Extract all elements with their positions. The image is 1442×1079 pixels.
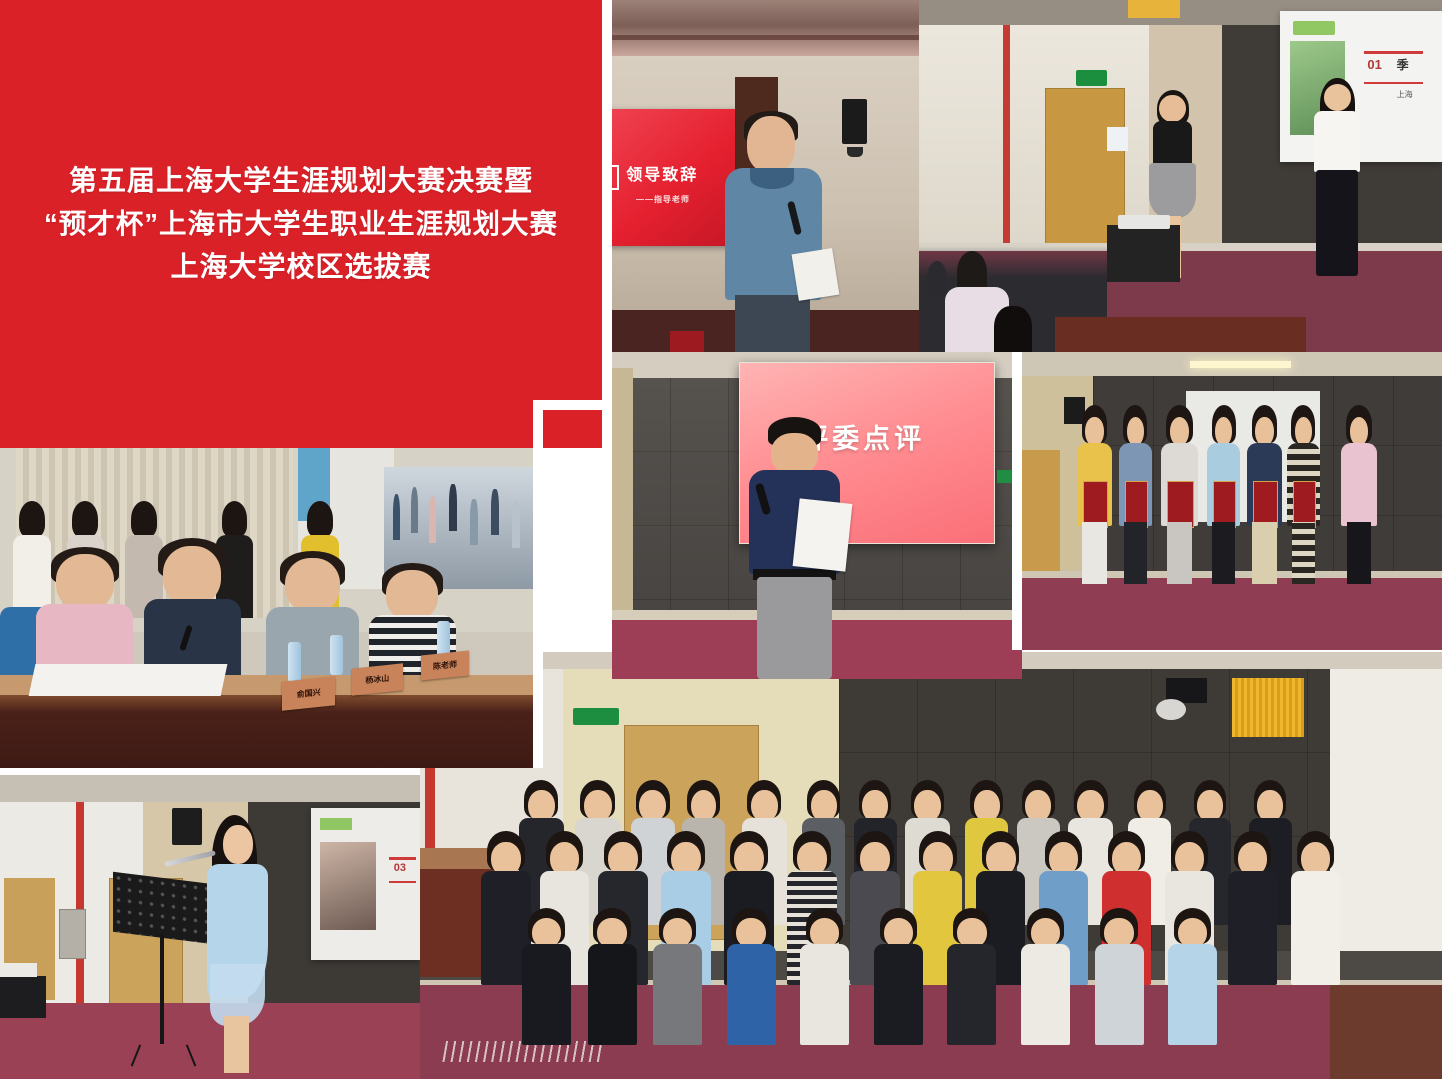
hosts-scene: 01 季 上海 — [919, 0, 1442, 352]
speaker-scene: 领导致辞 ——指导老师 — [612, 0, 919, 352]
awards-scene — [1022, 352, 1442, 650]
seam — [533, 400, 543, 768]
pink-shirt — [1341, 443, 1377, 526]
group-member — [800, 908, 849, 1045]
title-line-3: 上海大学校区选拔赛 — [44, 245, 558, 288]
grey-skirt — [1149, 163, 1196, 218]
light-fixture — [1190, 361, 1291, 368]
slide-rule-bottom — [389, 881, 415, 883]
head — [771, 433, 818, 475]
group-member — [874, 908, 923, 1045]
projection-screen: 03 — [311, 808, 420, 960]
outfit — [947, 944, 996, 1045]
head — [1127, 417, 1144, 446]
title-line-1: 第五届上海大学生涯规划大赛决赛暨 — [44, 159, 558, 202]
presenter-person — [1341, 412, 1377, 585]
head — [56, 554, 114, 610]
audience-head — [994, 306, 1032, 352]
slide-rule-bottom — [1364, 82, 1422, 84]
speaker-box-icon — [842, 99, 867, 145]
page-title: 第五届上海大学生涯规划大赛决赛暨 “预才杯”上海市大学生职业生涯规划大赛 上海大… — [30, 159, 572, 288]
head — [386, 570, 438, 621]
group-member — [522, 908, 571, 1045]
logo-icon — [320, 818, 353, 830]
grey-trousers — [757, 577, 832, 679]
person-speaking — [747, 417, 841, 679]
seam — [602, 0, 612, 352]
presenter-person — [1311, 84, 1363, 288]
side-floor — [1330, 985, 1442, 1079]
flute-scene: 03 — [0, 775, 420, 1079]
name-placard: 俞国兴 — [282, 676, 335, 710]
head — [1324, 84, 1351, 111]
white-blouse — [1314, 111, 1360, 172]
certificate — [1083, 481, 1108, 528]
red-pipe — [1003, 25, 1010, 243]
black-trousers — [1316, 170, 1358, 276]
legs — [1252, 522, 1276, 584]
group-member — [1021, 908, 1070, 1045]
door — [1022, 450, 1060, 578]
group-member — [653, 908, 702, 1045]
suit — [522, 944, 571, 1045]
awardee-person — [1287, 412, 1321, 585]
group-member — [588, 908, 637, 1045]
outfit — [800, 944, 849, 1045]
music-stand-plate — [113, 872, 214, 945]
awardee-person — [1247, 412, 1283, 585]
group-scene — [420, 652, 1442, 1079]
head — [1295, 417, 1312, 446]
head — [747, 116, 796, 173]
slide-title: 季 — [1397, 56, 1409, 73]
outfit — [1095, 944, 1144, 1045]
slide-number-frame — [612, 165, 619, 190]
awardee-person — [1161, 412, 1199, 585]
judges-panel-photo: 俞国兴 杨冰山 陈老师 — [0, 410, 533, 768]
seam — [533, 400, 612, 410]
slide-subtitle: ——指导老师 — [636, 194, 690, 205]
head — [1255, 417, 1274, 446]
slide-title: 领导致辞 — [626, 161, 698, 185]
group-member — [947, 908, 996, 1045]
judge-comments-photo: 评委点评 — [612, 352, 1022, 679]
legs — [1124, 522, 1147, 584]
tshirt — [653, 944, 702, 1045]
legs — [1167, 522, 1193, 584]
ceiling — [0, 775, 420, 802]
slide-number: 03 — [394, 862, 406, 874]
title-line-2: “预才杯”上海市大学生职业生涯规划大赛 — [44, 203, 558, 246]
door-sign — [1107, 127, 1128, 152]
water-bottle — [330, 635, 343, 675]
group-member — [727, 908, 776, 1045]
music-stand — [113, 878, 214, 1066]
stage-floor — [1022, 578, 1442, 650]
outfit — [1168, 944, 1217, 1045]
head — [285, 558, 340, 613]
front-desk — [1055, 317, 1306, 352]
speaker-box-icon — [172, 808, 201, 844]
certificate — [1167, 481, 1193, 528]
outfit — [727, 944, 776, 1045]
outfit — [1021, 944, 1070, 1045]
certificate — [1213, 481, 1237, 528]
group-member — [1168, 908, 1217, 1045]
music-stand-pole — [160, 935, 164, 1044]
person-speaking — [723, 116, 824, 352]
paper-sheet — [792, 248, 839, 301]
legs — [224, 1016, 249, 1073]
black-trousers — [1347, 522, 1371, 584]
slide-number: 01 — [1367, 57, 1381, 72]
red-stool — [670, 331, 704, 352]
audience-head — [927, 261, 948, 297]
red-title-banner: 第五届上海大学生涯规划大赛决赛暨 “预才杯”上海市大学生职业生涯规划大赛 上海大… — [0, 0, 602, 448]
group-member — [1095, 908, 1144, 1045]
front-row — [522, 908, 1340, 1045]
wall-cabinet — [59, 909, 86, 960]
legs — [1292, 522, 1315, 584]
head — [1085, 417, 1104, 446]
flutist-person — [210, 815, 265, 1073]
suit — [588, 944, 637, 1045]
award-ceremony-photo — [1022, 352, 1442, 650]
leader-speech-photo: 领导致辞 ——指导老师 — [612, 0, 919, 352]
judges-scene: 俞国兴 杨冰山 陈老师 — [0, 410, 533, 768]
black-top — [1153, 121, 1193, 165]
awardee-person — [1207, 412, 1241, 585]
legs — [1082, 522, 1106, 584]
left-wood-panel — [612, 368, 633, 630]
gold-tassel-banner — [1232, 678, 1304, 738]
legs — [1212, 522, 1235, 584]
side-table — [0, 976, 46, 1019]
awardee-person — [1077, 412, 1113, 585]
head — [1159, 95, 1185, 122]
group-photo — [420, 652, 1442, 1079]
comment-scene: 评委点评 — [612, 352, 1022, 679]
contestant-presentation-photo: 01 季 上海 — [919, 0, 1442, 352]
trousers — [735, 295, 810, 352]
slide-subtitle: 上海 — [1397, 89, 1413, 100]
red-pipe — [76, 802, 84, 1003]
seam — [1012, 352, 1022, 650]
awardee-person — [1119, 412, 1153, 585]
side-table — [1107, 225, 1180, 281]
water-bottle — [288, 642, 301, 682]
documents — [29, 664, 228, 696]
seam — [0, 768, 420, 775]
exit-sign-icon — [573, 708, 619, 725]
slide-rule-top — [389, 857, 415, 860]
ceiling — [612, 0, 919, 56]
exit-sign-icon — [1076, 70, 1107, 86]
projector-device — [1118, 215, 1170, 229]
chandelier — [1128, 0, 1180, 18]
paper-sheet — [793, 499, 853, 572]
outfit — [874, 944, 923, 1045]
slide-rule-top — [1364, 51, 1422, 54]
name-placard: 杨冰山 — [352, 663, 403, 695]
certificate — [1253, 481, 1278, 528]
logo-icon — [1293, 21, 1335, 35]
photo-collage: 第五届上海大学生涯规划大赛决赛暨 “预才杯”上海市大学生职业生涯规划大赛 上海大… — [0, 0, 1442, 1079]
flute-performance-photo: 03 — [0, 775, 420, 1079]
door — [1045, 88, 1125, 245]
music-stand-legs — [132, 1044, 197, 1067]
head — [223, 825, 252, 864]
slide-portrait — [320, 842, 377, 930]
head — [163, 546, 221, 605]
certificate — [1125, 481, 1149, 528]
certificate — [1293, 481, 1317, 528]
